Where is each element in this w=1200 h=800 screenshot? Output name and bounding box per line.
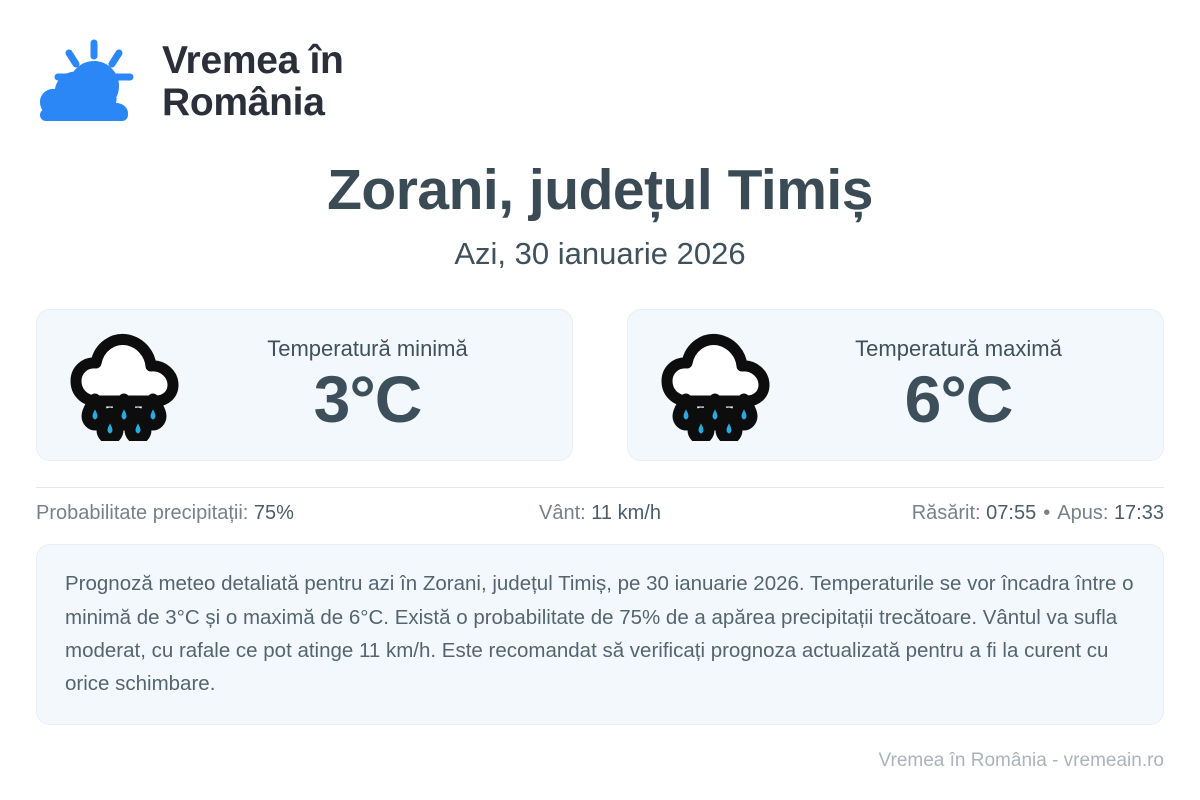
sunset-label: Apus: xyxy=(1057,502,1114,524)
min-temperature-label: Temperatură minimă xyxy=(203,336,532,362)
wind-stat: Vânt: 11 km/h xyxy=(412,502,788,525)
forecast-description: Prognoză meteo detaliată pentru azi în Z… xyxy=(36,544,1164,725)
min-temperature-text: Temperatură minimă 3°C xyxy=(203,336,550,436)
page-title: Zorani, județul Timiș xyxy=(36,160,1164,220)
max-temperature-value: 6°C xyxy=(794,364,1123,435)
weather-stats: Probabilitate precipitații: 75% Vânt: 11… xyxy=(36,488,1164,538)
separator-dot: • xyxy=(1036,502,1057,524)
wind-value: 11 km/h xyxy=(591,502,661,524)
rain-cloud-icon xyxy=(658,329,776,441)
sunrise-value: 07:55 xyxy=(986,502,1036,524)
wind-label: Vânt: xyxy=(539,502,591,524)
footer-credit: Vremea în România - vremeain.ro xyxy=(879,750,1164,772)
max-temperature-text: Temperatură maximă 6°C xyxy=(794,336,1141,436)
max-temperature-card: Temperatură maximă 6°C xyxy=(627,309,1164,461)
precipitation-stat: Probabilitate precipitații: 75% xyxy=(36,502,412,525)
sunrise-label: Răsărit: xyxy=(912,502,986,524)
max-temperature-label: Temperatură maximă xyxy=(794,336,1123,362)
sun-times-stat: Răsărit: 07:55•Apus: 17:33 xyxy=(788,502,1164,525)
page-subtitle: Azi, 30 ianuarie 2026 xyxy=(36,236,1164,272)
weather-page: Vremea în România Zorani, județul Timiș … xyxy=(0,0,1200,800)
sun-cloud-icon xyxy=(36,39,140,125)
brand-header: Vremea în România xyxy=(36,0,1164,118)
rain-cloud-icon xyxy=(67,329,185,441)
brand-name: Vremea în România xyxy=(162,40,344,124)
min-temperature-card: Temperatură minimă 3°C xyxy=(36,309,573,461)
precipitation-label: Probabilitate precipitații: xyxy=(36,502,254,524)
min-temperature-value: 3°C xyxy=(203,364,532,435)
temperature-cards: Temperatură minimă 3°C Temp xyxy=(36,309,1164,461)
precipitation-value: 75% xyxy=(254,502,294,524)
sunset-value: 17:33 xyxy=(1114,502,1164,524)
